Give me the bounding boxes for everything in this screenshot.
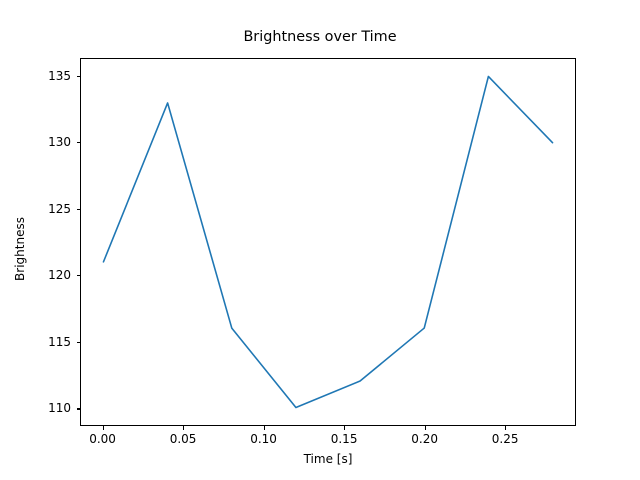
x-axis-tick-labels: 0.000.050.100.150.200.25: [0, 0, 640, 480]
x-tick-label: 0.05: [153, 432, 213, 446]
x-tick-label: 0.10: [234, 432, 294, 446]
y-axis-label: Brightness: [13, 169, 27, 329]
x-axis-label: Time [s]: [80, 452, 576, 466]
x-tick-label: 0.20: [395, 432, 455, 446]
x-tick-label: 0.15: [314, 432, 374, 446]
chart-figure: Brightness over Time 110115120125130135 …: [0, 0, 640, 480]
x-tick-label: 0.25: [475, 432, 535, 446]
x-tick-label: 0.00: [73, 432, 133, 446]
